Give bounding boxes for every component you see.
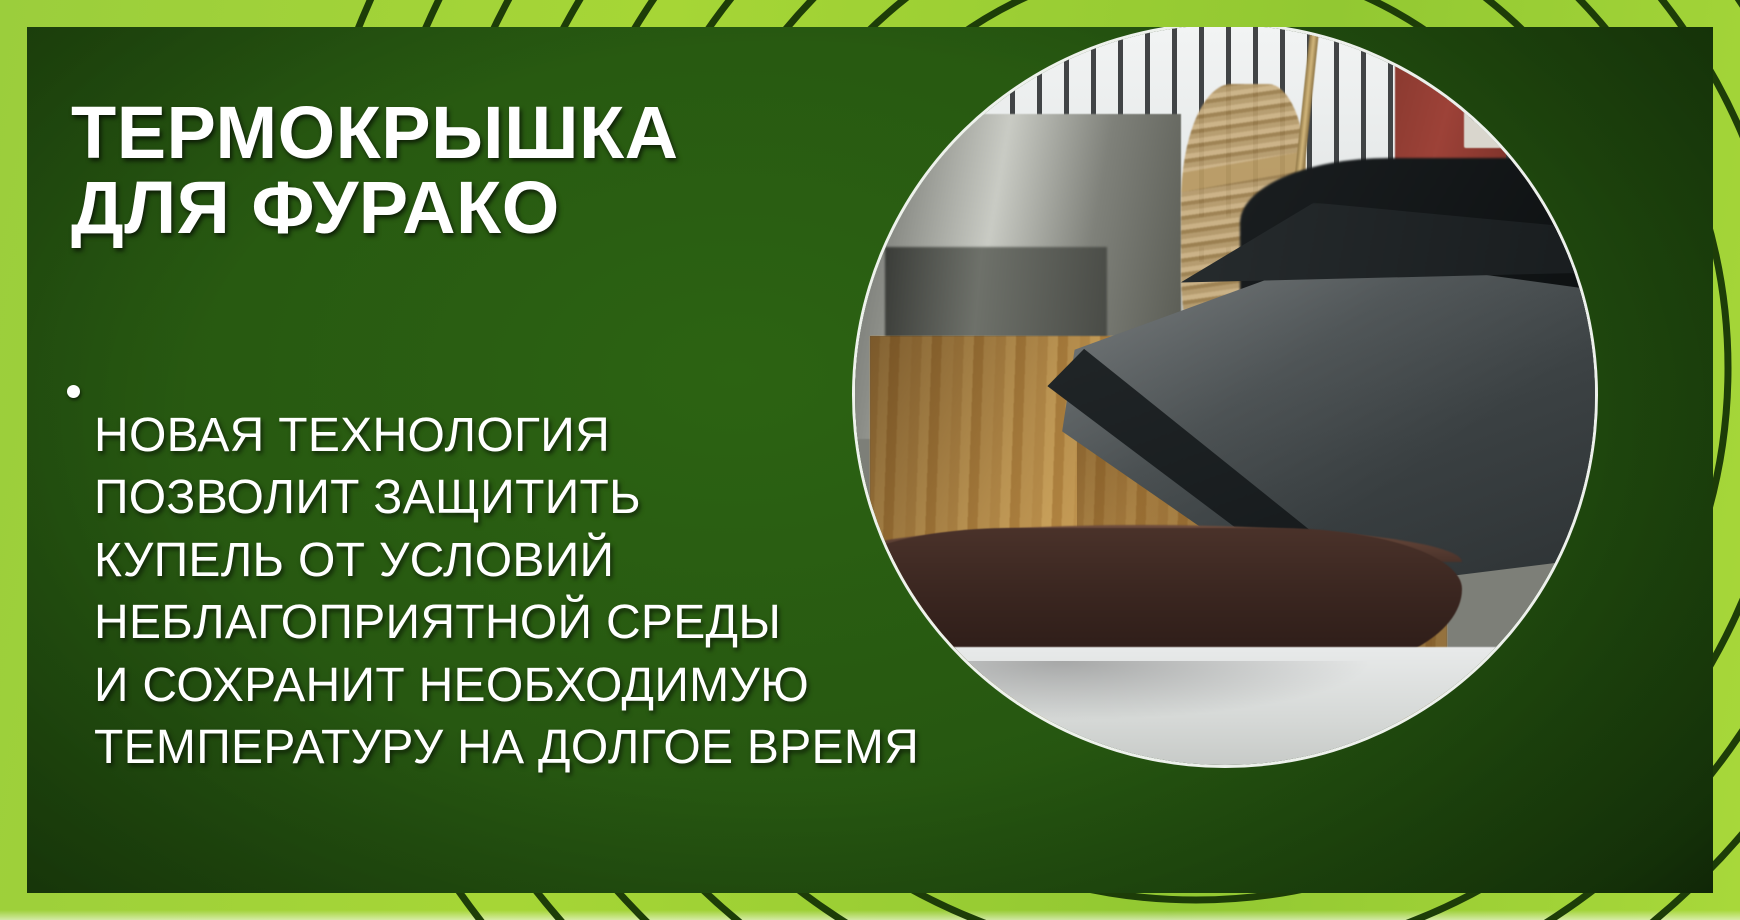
benefit-bullet-text: НОВАЯ ТЕХНОЛОГИЯ ПОЗВОЛИТ ЗАЩИТИТЬ КУПЕЛ… (94, 405, 919, 779)
page-title: ТЕРМОКРЫШКА ДЛЯ ФУРАКО (71, 95, 831, 246)
photo-cabinet-label-a (1464, 103, 1506, 147)
promo-banner: ТЕРМОКРЫШКА ДЛЯ ФУРАКО НОВАЯ ТЕХНОЛОГИЯ … (0, 0, 1740, 920)
photo-image (855, 27, 1595, 765)
bullet-dot-icon (67, 385, 80, 398)
product-photo (855, 27, 1595, 765)
benefit-bullet: НОВАЯ ТЕХНОЛОГИЯ ПОЗВОЛИТ ЗАЩИТИТЬ КУПЕЛ… (67, 357, 947, 827)
frame-sheen (0, 910, 1740, 920)
inner-panel: ТЕРМОКРЫШКА ДЛЯ ФУРАКО НОВАЯ ТЕХНОЛОГИЯ … (27, 27, 1713, 893)
